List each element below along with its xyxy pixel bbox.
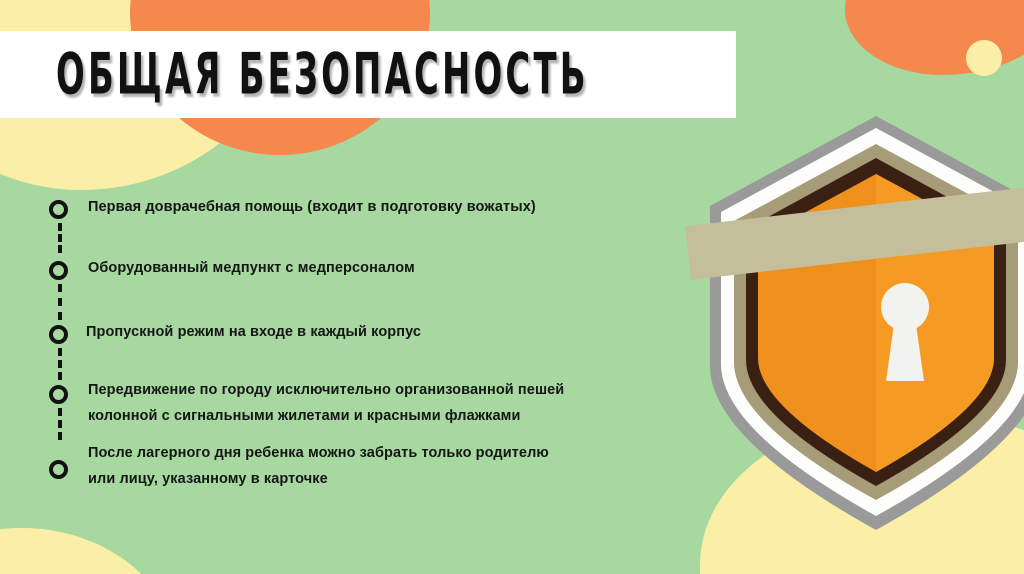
- ring-marker-icon: [49, 200, 68, 219]
- bullet-marker-column: [44, 308, 88, 370]
- list-item-text: Оборудованный медпункт с медперсоналом: [88, 246, 684, 281]
- ring-marker-icon: [49, 261, 68, 280]
- list-item-text: Передвижение по городу исключительно орг…: [88, 370, 684, 429]
- list-item-line: Первая доврачебная помощь (входит в подг…: [88, 194, 684, 220]
- list-item-line: Пропускной режим на входе в каждый корпу…: [86, 319, 684, 345]
- security-shield-emblem: [706, 108, 1024, 538]
- list-item-line: После лагерного дня ребенка можно забрат…: [88, 440, 684, 466]
- page-title: ОБЩАЯ БЕЗОПАСНОСТЬ: [56, 46, 589, 103]
- list-item: Передвижение по городу исключительно орг…: [44, 370, 684, 427]
- bullet-list: Первая доврачебная помощь (входит в подг…: [44, 190, 684, 487]
- list-item-line: Передвижение по городу исключительно орг…: [88, 377, 684, 403]
- bullet-marker-column: [44, 370, 88, 427]
- yellow-blob-bottom-left: [0, 528, 180, 574]
- yellow-dot-top-right: [966, 40, 1002, 76]
- bullet-marker-column: [44, 190, 88, 246]
- bullet-marker-column: [44, 427, 88, 487]
- list-item-line: или лицу, указанному в карточке: [88, 466, 684, 492]
- list-item-text: После лагерного дня ребенка можно забрат…: [88, 427, 684, 492]
- ring-marker-icon: [49, 385, 68, 404]
- bullet-marker-column: [44, 246, 88, 308]
- list-item-text: Первая доврачебная помощь (входит в подг…: [88, 190, 684, 220]
- list-item-text: Пропускной режим на входе в каждый корпу…: [86, 308, 684, 345]
- list-item: После лагерного дня ребенка можно забрат…: [44, 427, 684, 487]
- ring-marker-icon: [49, 325, 68, 344]
- list-item-line: Оборудованный медпункт с медперсоналом: [88, 255, 684, 281]
- list-item: Первая доврачебная помощь (входит в подг…: [44, 190, 684, 246]
- list-item-line: колонной с сигнальными жилетами и красны…: [88, 403, 684, 429]
- keyhole-icon: [877, 280, 933, 385]
- title-bar: ОБЩАЯ БЕЗОПАСНОСТЬ: [0, 31, 736, 118]
- ring-marker-icon: [49, 460, 68, 479]
- list-item: Оборудованный медпункт с медперсоналом: [44, 246, 684, 308]
- list-item: Пропускной режим на входе в каждый корпу…: [44, 308, 684, 370]
- shield-body-orange: [706, 108, 1024, 538]
- slide-canvas: ОБЩАЯ БЕЗОПАСНОСТЬ Первая доврачебная по…: [0, 0, 1024, 574]
